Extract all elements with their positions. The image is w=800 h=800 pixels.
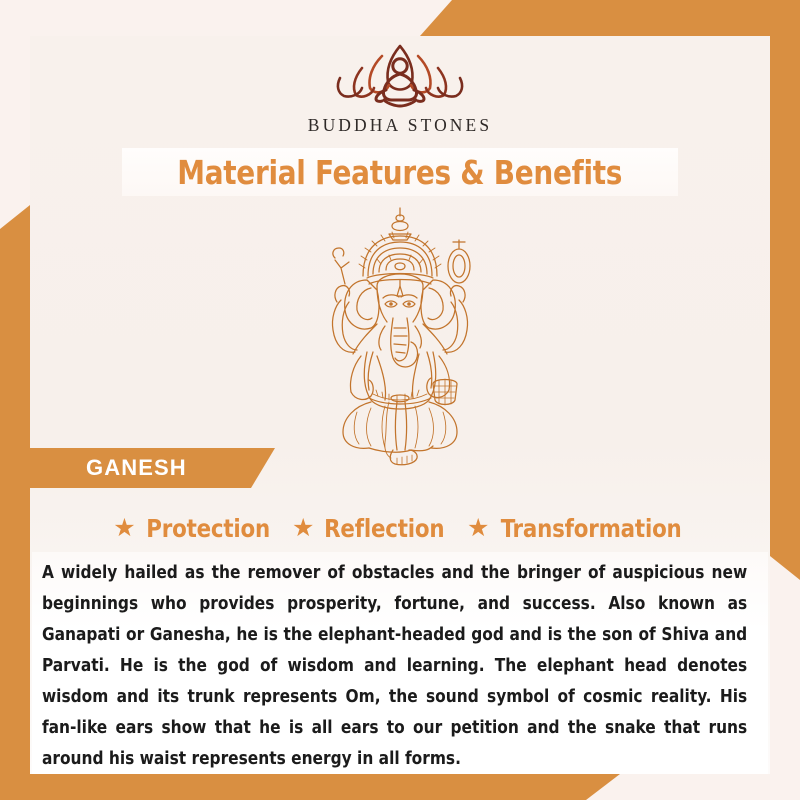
lotus-meditation-icon — [310, 38, 490, 114]
brand-name: BUDDHA STONES — [308, 115, 492, 136]
description-text: A widely hailed as the remover of obstac… — [38, 558, 751, 775]
feature-item-reflection: ★ Reflection — [292, 514, 448, 543]
brand-header: BUDDHA STONES — [30, 36, 770, 146]
frame-band-bottom — [0, 774, 620, 800]
description-zone: A widely hailed as the remover of obstac… — [32, 552, 768, 774]
feature-label: Reflection — [325, 514, 445, 543]
title-banner: Material Features & Benefits — [122, 148, 678, 196]
infographic-page: BUDDHA STONES Material Features & Benefi… — [0, 0, 800, 800]
frame-band-top — [420, 0, 800, 36]
ribbon-label: GANESH — [86, 455, 187, 481]
feature-item-protection: ★ Protection — [113, 514, 273, 543]
feature-item-transformation: ★ Transformation — [467, 514, 687, 543]
illustration-zone — [30, 206, 770, 466]
feature-list: ★ Protection ★ Reflection ★ Transformati… — [30, 514, 770, 543]
feature-label: Transformation — [501, 514, 682, 543]
ganesha-line-art-icon — [293, 202, 508, 470]
section-ribbon-ganesh: GANESH — [30, 448, 275, 488]
star-icon: ★ — [467, 516, 489, 541]
frame-band-left-upper — [0, 205, 30, 485]
star-icon: ★ — [292, 516, 314, 541]
page-title: Material Features & Benefits — [178, 153, 623, 192]
frame-band-left-lower — [0, 485, 30, 775]
star-icon: ★ — [113, 516, 135, 541]
frame-band-right — [770, 0, 800, 580]
feature-label: Protection — [146, 514, 270, 543]
page-surface: BUDDHA STONES Material Features & Benefi… — [30, 36, 770, 774]
